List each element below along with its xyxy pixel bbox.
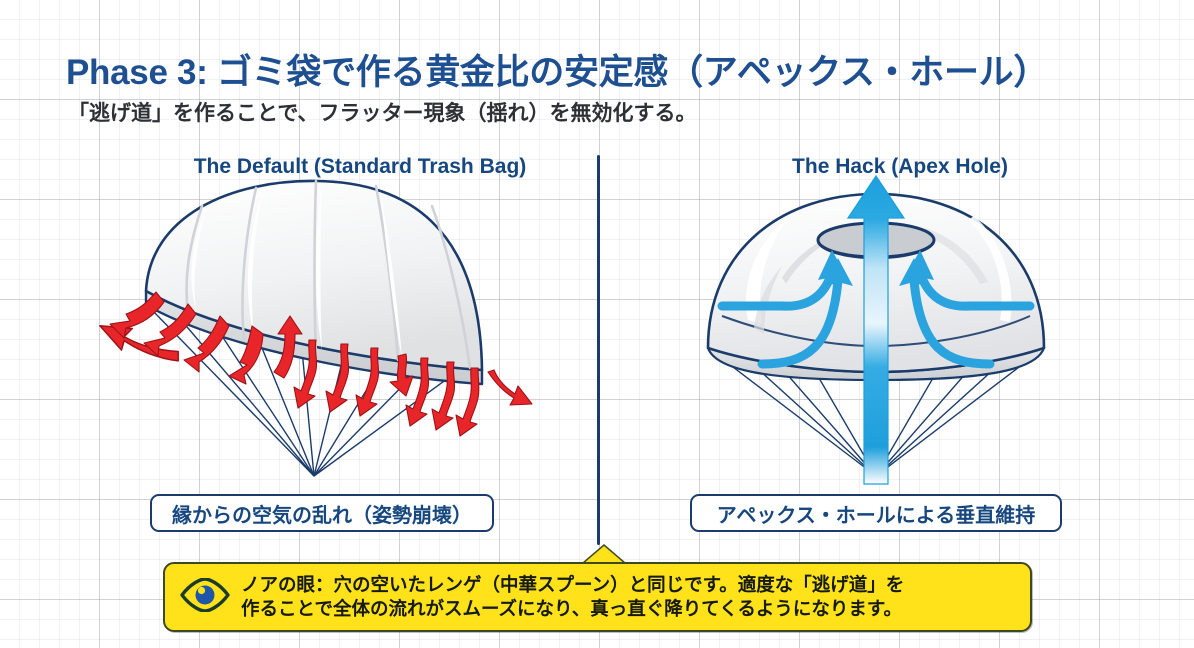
diagram-default-parachute <box>110 188 530 498</box>
callout-line-1: ノアの眼：穴の空いたレンゲ（中華スプーン）と同じです。適度な「逃げ道」を <box>241 573 904 597</box>
caption-hack: アペックス・ホールによる垂直維持 <box>690 494 1062 532</box>
infographic-slide: Phase 3: ゴミ袋で作る黄金比の安定感（アペックス・ホール） 「逃げ道」を… <box>0 0 1194 648</box>
diagram-apex-hole-parachute <box>686 188 1076 498</box>
page-title: Phase 3: ゴミ袋で作る黄金比の安定感（アペックス・ホール） <box>66 44 1048 95</box>
column-heading-default: The Default (Standard Trash Bag) <box>60 155 660 179</box>
page-subtitle: 「逃げ道」を作ることで、フラッター現象（揺れ）を無効化する。 <box>68 97 697 127</box>
callout-line-2: 作ることで全体の流れがスムーズになり、真っ直ぐ降りてくるようになります。 <box>241 597 904 621</box>
column-heading-hack: The Hack (Apex Hole) <box>620 155 1180 179</box>
eye-icon <box>179 578 231 617</box>
caption-default: 縁からの空気の乱れ（姿勢崩壊） <box>150 494 494 532</box>
callout-box: ノアの眼：穴の空いたレンゲ（中華スプーン）と同じです。適度な「逃げ道」を 作るこ… <box>163 562 1032 632</box>
callout-text: ノアの眼：穴の空いたレンゲ（中華スプーン）と同じです。適度な「逃げ道」を 作るこ… <box>241 573 918 622</box>
center-divider <box>597 155 600 545</box>
